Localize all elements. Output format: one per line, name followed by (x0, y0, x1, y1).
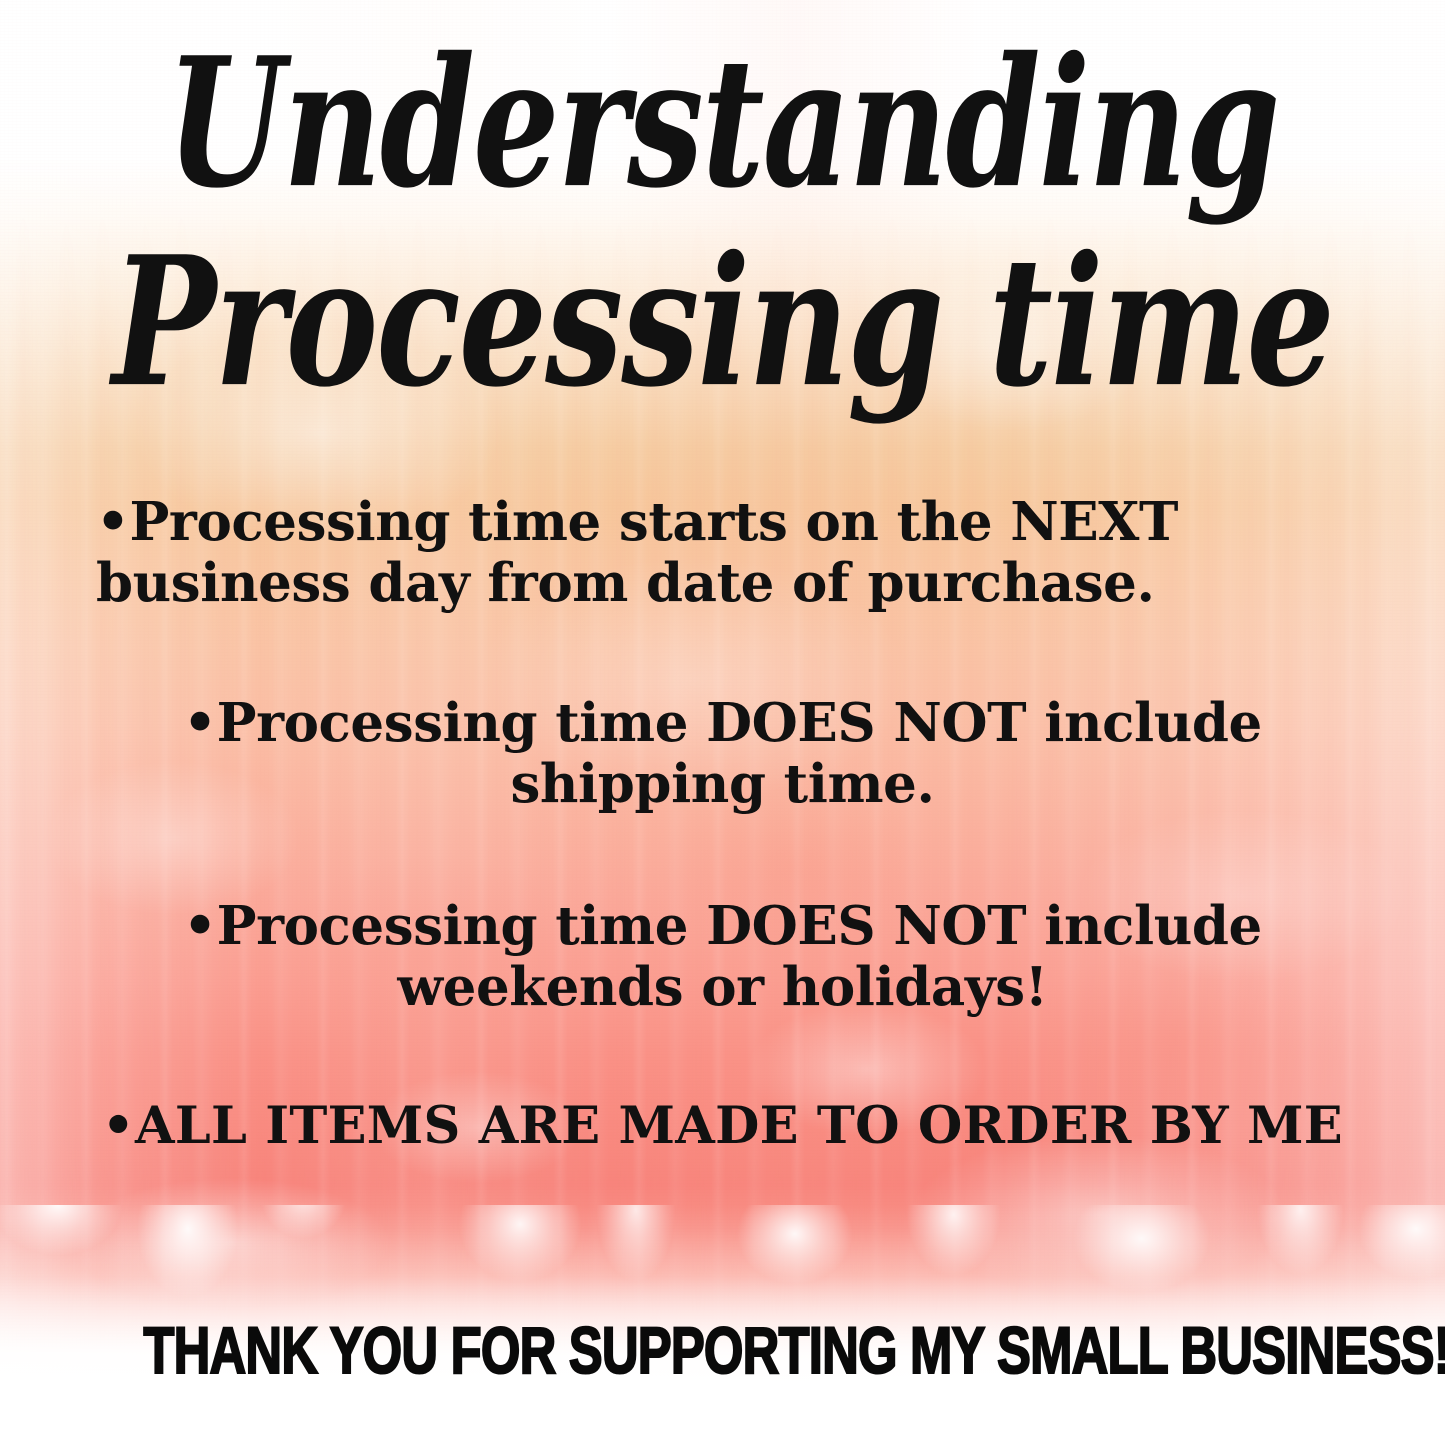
page-title: Understanding Processing time (0, 52, 1445, 394)
list-item-made-to-order: •ALL ITEMS ARE MADE TO ORDER BY ME (96, 1097, 1349, 1156)
list-item-not-shipping-time: •Processing time DOES NOT include shippi… (96, 693, 1349, 816)
processing-time-poster: Understanding Processing time •Processin… (0, 0, 1445, 1445)
title-line-understanding: Understanding (51, 36, 1395, 211)
footer-thank-you-message: THANK YOU FOR SUPPORTING MY SMALL BUSINE… (143, 1319, 1445, 1385)
poster-content: Understanding Processing time •Processin… (0, 0, 1445, 1445)
footer: THANK YOU FOR SUPPORTING MY SMALL BUSINE… (0, 1321, 1445, 1383)
title-line-processing-time: Processing time (36, 235, 1409, 410)
list-item-not-weekends-holidays: •Processing time DOES NOT include weeken… (96, 896, 1349, 1019)
policy-bullet-list: •Processing time starts on the NEXT busi… (96, 492, 1349, 1156)
list-item-next-business-day: •Processing time starts on the NEXT busi… (96, 492, 1349, 615)
